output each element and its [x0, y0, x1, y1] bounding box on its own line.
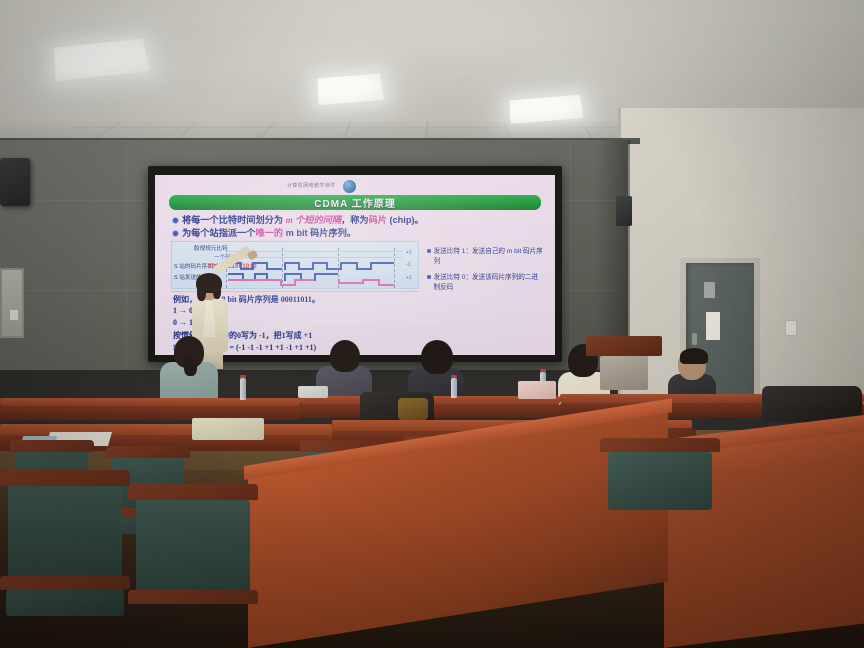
slide-logo-icon: [343, 180, 356, 193]
ceiling-light-panel-1: [54, 39, 150, 81]
light-switch[interactable]: [785, 320, 797, 336]
water-bottle-2: [451, 378, 457, 398]
pink-box-on-desk: [518, 381, 556, 399]
bullet-dot-icon: [173, 218, 178, 223]
wall-cabinet: [0, 268, 24, 338]
slide-right-bullets: 发送比特 1：发送自己的 m bit 码片序列 发送比特 0：发送该码片序列的二…: [427, 247, 543, 299]
slide-right-bullet-2-text: 发送比特 0：发送该码片序列的二进制反码: [434, 273, 543, 292]
figure-tick-2: -1: [406, 262, 410, 268]
slide-right-bullet-2: 发送比特 0：发送该码片序列的二进制反码: [427, 273, 543, 292]
bottle-cap-3: [540, 369, 546, 372]
slide-bullet-1: 将每一个比特时间划分为 m 个短的间隔，称为码片 (chip)。: [173, 215, 424, 226]
wall-speaker-left: [0, 158, 30, 206]
slide-right-bullet-1-text: 发送比特 1：发送自己的 m bit 码片序列: [434, 247, 543, 266]
door-notice-paper: [706, 312, 720, 340]
door-plate: [704, 282, 715, 298]
desk-row1-left-top: [0, 398, 300, 406]
attendee-head: [421, 340, 453, 374]
lecture-room-photo: 计算机网络教学课件 CDMA 工作原理 将每一个比特时间划分为 m 个短的间隔，…: [0, 0, 864, 648]
bullet-dot-icon: [427, 275, 431, 279]
slide-right-bullet-1: 发送比特 1：发送自己的 m bit 码片序列: [427, 247, 543, 266]
chair-front-1[interactable]: [0, 470, 130, 648]
slide-title: CDMA 工作原理: [314, 195, 395, 210]
attendee-hair-tie: [184, 358, 197, 376]
slide-logo-text: 计算机网络教学课件: [287, 182, 336, 189]
attendee-head: [330, 340, 360, 372]
slide-bullet-1-text: 将每一个比特时间划分为 m 个短的间隔，称为码片 (chip)。: [182, 215, 424, 226]
figure-caption-top: 胶规规元比特: [194, 244, 228, 252]
bottle-cap-2: [451, 375, 457, 378]
slide-bullet-2-text: 为每个站指派一个唯一的 m bit 码片序列。: [182, 228, 356, 239]
ceiling-light-panel-2: [317, 74, 383, 105]
bullet-dot-icon: [173, 231, 178, 236]
presenter-hair-side-left: [197, 283, 206, 301]
door-handle[interactable]: [692, 333, 697, 345]
chair-front-right[interactable]: [600, 438, 720, 558]
lectern-body: [600, 356, 648, 390]
figure-tick-3: +1: [406, 275, 412, 281]
white-item-on-desk: [298, 386, 328, 398]
attendee-cap: [680, 348, 708, 364]
chair-front-2[interactable]: [128, 484, 258, 648]
water-bottle-1: [240, 378, 246, 400]
figure-tick-1: +1: [406, 250, 412, 256]
presenter-hair-side-right: [213, 283, 221, 299]
laptop-closed: [192, 418, 264, 440]
handbag-detail: [398, 398, 428, 420]
slide-title-banner: CDMA 工作原理: [169, 195, 541, 210]
wall-speaker-right: [616, 196, 632, 226]
bullet-dot-icon: [427, 249, 431, 253]
cabinet-label: [10, 310, 18, 320]
slide-bullet-2: 为每个站指派一个唯一的 m bit 码片序列。: [173, 228, 356, 239]
lectern-top: [586, 336, 662, 356]
bottle-cap-1: [240, 375, 246, 378]
